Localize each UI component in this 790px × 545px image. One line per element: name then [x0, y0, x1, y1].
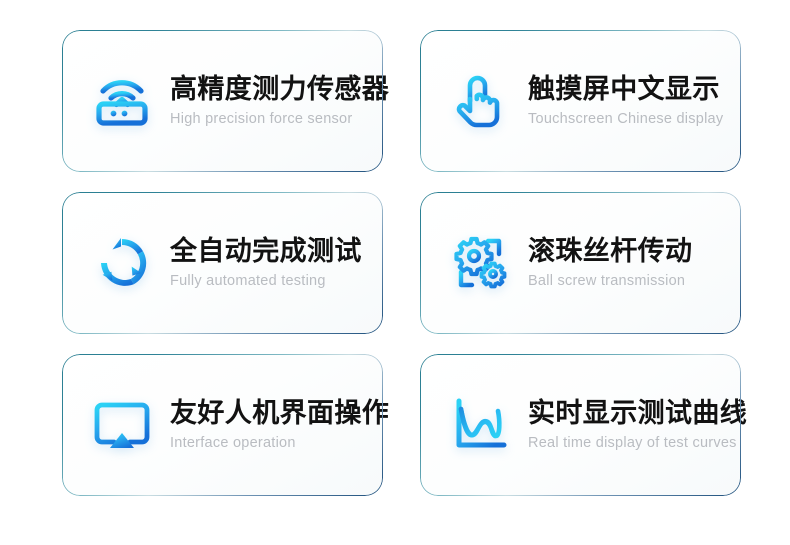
feature-card-ball-screw[interactable]: 滚珠丝杆传动 Ball screw transmission — [420, 192, 741, 334]
card-title: 实时显示测试曲线 — [528, 398, 733, 428]
card-text-block: 友好人机界面操作 Interface operation — [170, 398, 383, 453]
feature-card-touchscreen-display[interactable]: 触摸屏中文显示 Touchscreen Chinese display — [420, 30, 741, 172]
card-subtitle: Touchscreen Chinese display — [528, 111, 733, 128]
monitor-bar-chart-icon — [80, 383, 164, 467]
card-subtitle: High precision force sensor — [170, 111, 375, 128]
curve-graph-icon — [438, 383, 522, 467]
card-title: 友好人机界面操作 — [170, 398, 375, 428]
card-text-block: 滚珠丝杆传动 Ball screw transmission — [528, 236, 741, 291]
card-text-block: 高精度测力传感器 High precision force sensor — [170, 74, 383, 129]
dual-gears-icon — [438, 221, 522, 305]
card-subtitle: Real time display of test curves — [528, 435, 733, 452]
card-title: 滚珠丝杆传动 — [528, 236, 733, 266]
feature-card-automated-testing[interactable]: 全自动完成测试 Fully automated testing — [62, 192, 383, 334]
card-text-block: 全自动完成测试 Fully automated testing — [170, 236, 383, 291]
feature-card-grid: 高精度测力传感器 High precision force sensor 触摸屏… — [0, 0, 790, 545]
card-subtitle: Interface operation — [170, 435, 375, 452]
card-text-block: 触摸屏中文显示 Touchscreen Chinese display — [528, 74, 741, 129]
card-subtitle: Fully automated testing — [170, 273, 375, 290]
touch-hand-icon — [438, 59, 522, 143]
card-subtitle: Ball screw transmission — [528, 273, 733, 290]
feature-card-force-sensor[interactable]: 高精度测力传感器 High precision force sensor — [62, 30, 383, 172]
card-title: 全自动完成测试 — [170, 236, 375, 266]
card-title: 触摸屏中文显示 — [528, 74, 733, 104]
force-sensor-icon — [80, 59, 164, 143]
feature-card-interface-operation[interactable]: 友好人机界面操作 Interface operation — [62, 354, 383, 496]
feature-card-realtime-curves[interactable]: 实时显示测试曲线 Real time display of test curve… — [420, 354, 741, 496]
card-text-block: 实时显示测试曲线 Real time display of test curve… — [528, 398, 741, 453]
card-title: 高精度测力传感器 — [170, 74, 375, 104]
auto-refresh-cycle-icon — [80, 221, 164, 305]
